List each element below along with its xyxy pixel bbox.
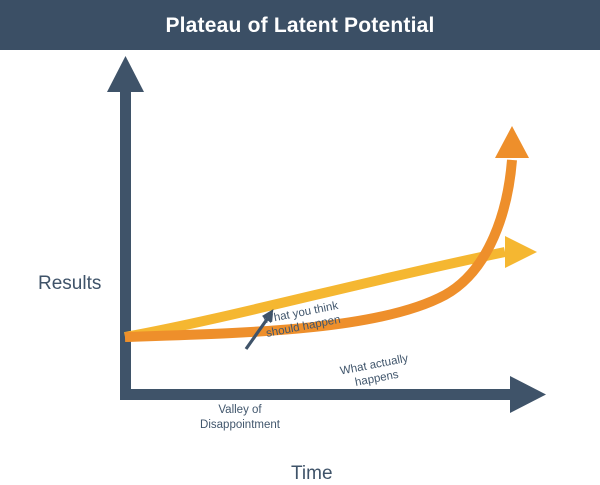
valley-annotation-line2: Disappointment: [180, 418, 300, 433]
arrow-right-icon: [510, 376, 546, 413]
arrow-up-icon: [107, 56, 144, 92]
chart-page: Plateau of Latent Potential: [0, 0, 600, 469]
x-axis-label: Time: [291, 463, 333, 485]
x-axis-shaft: [120, 389, 515, 400]
chart-canvas: Results Time What you think should happe…: [0, 50, 600, 469]
chart-svg: [0, 50, 600, 469]
actual-curve-arrowhead: [495, 126, 529, 158]
valley-annotation-label: Valley of Disappointment: [180, 403, 300, 433]
page-title: Plateau of Latent Potential: [165, 15, 434, 36]
y-axis-body: [120, 90, 131, 400]
header-band: Plateau of Latent Potential: [0, 0, 600, 50]
valley-annotation-line1: Valley of: [180, 403, 300, 418]
expected-curve-arrowhead: [505, 236, 537, 268]
y-axis: [107, 56, 144, 400]
y-axis-label: Results: [38, 273, 101, 295]
